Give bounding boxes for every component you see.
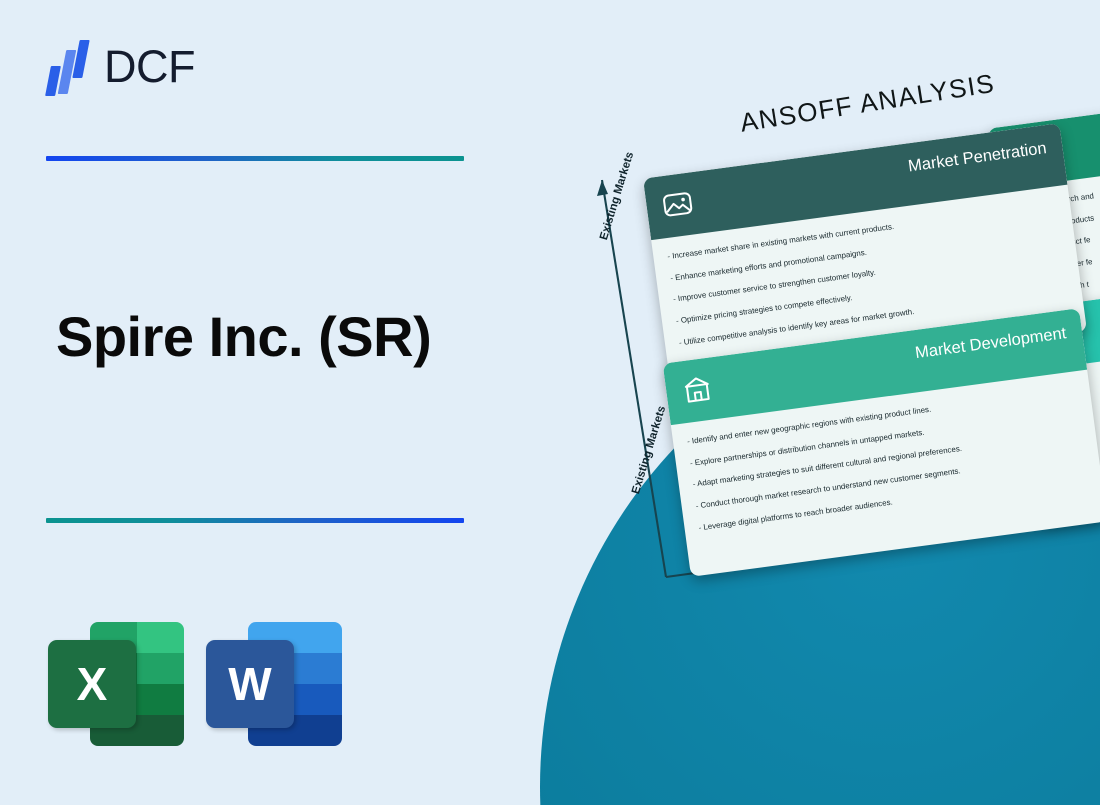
divider-bottom — [46, 518, 464, 523]
file-download-icons: X W — [48, 622, 342, 746]
wallet-image-icon — [659, 185, 697, 223]
card-title: Market Development — [914, 324, 1067, 363]
storefront-icon — [678, 370, 716, 408]
excel-badge: X — [48, 640, 136, 728]
brand-logo[interactable]: DCF — [46, 38, 195, 94]
artwork-clip: Existing Markets Existing Markets Existi… — [520, 0, 1100, 805]
card-title: Market Penetration — [907, 139, 1048, 176]
brand-name: DCF — [104, 44, 195, 89]
page-title: Spire Inc. (SR) — [56, 306, 526, 368]
word-badge: W — [206, 640, 294, 728]
dcf-bars-logo-icon — [46, 38, 90, 94]
excel-file-icon[interactable]: X — [48, 622, 184, 746]
divider-top — [46, 156, 464, 161]
word-file-icon[interactable]: W — [206, 622, 342, 746]
left-info-panel: DCF Spire Inc. (SR) X W — [0, 0, 560, 805]
